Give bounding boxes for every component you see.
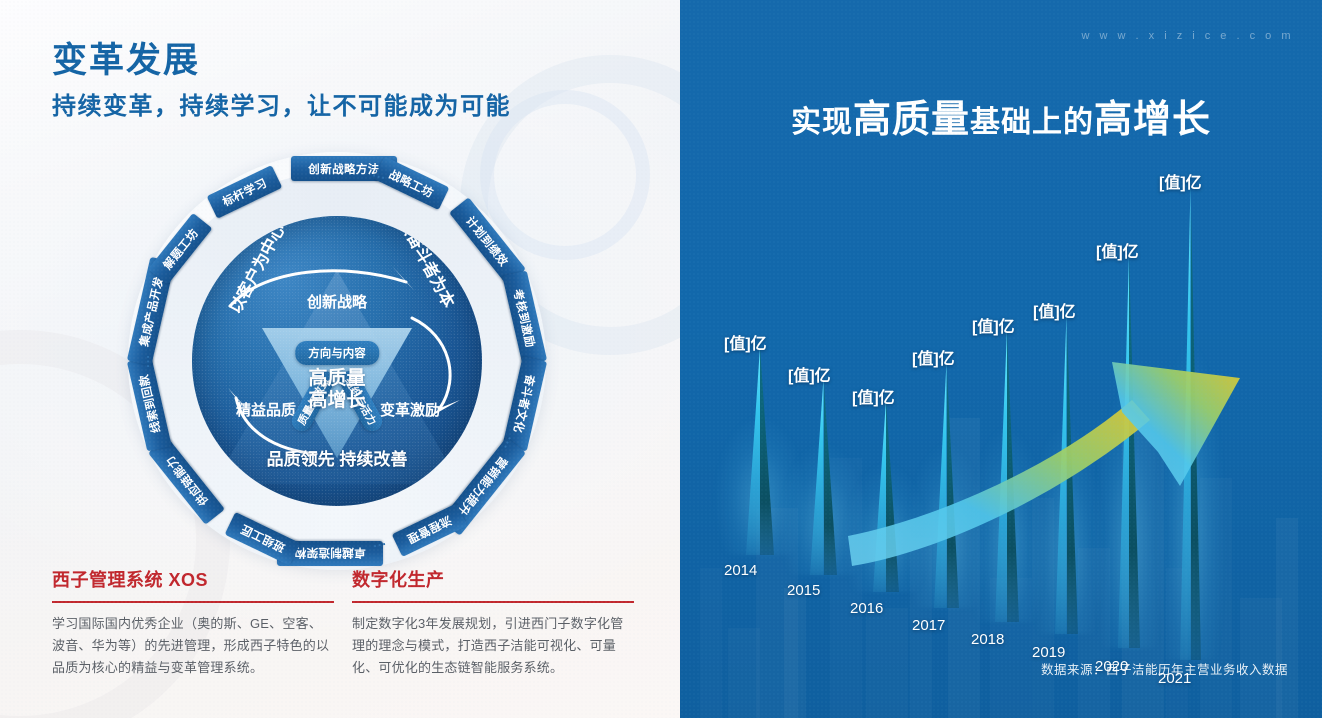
slide-root: 变革发展 持续变革，持续学习，让不可能成为可能 创新战略方法战略工坊计划到绩效考… [0,0,1322,718]
source-note: 数据来源：西子洁能历年主营业务收入数据 [1041,659,1288,678]
pill-direction-content: 方向与内容 [295,341,379,365]
core-line-1: 高质量 [308,368,365,389]
value-label-2017: [值]亿 [912,345,955,369]
vertex-reform-incentive: 变革激励 [380,399,440,420]
page-subtitle: 持续变革，持续学习，让不可能成为可能 [52,86,511,121]
arrow-bottom-left-icon [216,384,328,460]
text-block-xos: 西子管理系统 XOS 学习国际国内优秀企业（奥的斯、GE、空客、波音、华为等）的… [52,566,334,680]
value-label-2019: [值]亿 [1033,298,1076,322]
left-panel: 变革发展 持续变革，持续学习，让不可能成为可能 创新战略方法战略工坊计划到绩效考… [0,0,680,718]
value-label-2014: [值]亿 [724,330,767,354]
pill-organization-vitality: 组织与活力 [336,367,385,434]
right-panel-chart: w w w . x i z i c e . c o m 实现高质量基础上的高增长… [680,0,1322,718]
management-system-diagram: 创新战略方法战略工坊计划到绩效考核到激励奋斗者文化营销能力提升流程管理卓越制造架… [128,152,546,570]
arrow-right-icon [388,312,474,424]
value-label-2021: [值]亿 [1159,169,1202,193]
core-line-2: 高增长 [308,390,365,411]
block-body: 学习国际国内优秀企业（奥的斯、GE、空客、波音、华为等）的先进管理，形成西子特色… [52,613,334,680]
text-block-digital-production: 数字化生产 制定数字化3年发展规划，引进西门子数字化管理的理念与模式，打造西子洁… [352,566,634,680]
value-label-2015: [值]亿 [788,362,831,386]
arrow-top-left-icon [224,260,434,320]
year-label-2017: 2017 [912,617,945,634]
spike-bar-2020 [1118,255,1140,648]
spike-bar-2019 [1055,315,1078,634]
outer-triangle [214,270,460,484]
vertex-lean-quality: 精益品质 [236,399,296,420]
divider [52,601,334,603]
inner-disc: 以客户为中心 以奋斗者为本 创新战略 精益品质 变革激励 方向与内容 质量与效益… [192,216,482,506]
year-label-2014: 2014 [724,562,757,579]
year-label-2016: 2016 [850,600,883,617]
principle-striver-oriented: 以奋斗者为本 [394,216,462,311]
spike-bar-chart: [值]亿2014[值]亿2015[值]亿2016[值]亿2017[值]亿2018… [680,0,1322,718]
core-goal-text: 高质量 高增长 [308,368,365,411]
value-label-2020: [值]亿 [1096,238,1139,262]
block-title: 数字化生产 [352,566,634,592]
principle-customer-centric: 以客户为中心 [222,219,290,318]
ring-ellipsis: ... [135,352,153,370]
year-label-2018: 2018 [971,631,1004,648]
value-label-2018: [值]亿 [972,313,1015,337]
block-title: 西子管理系统 XOS [52,566,334,592]
inverted-triangle [262,328,412,458]
spike-bar-2021 [1180,186,1201,660]
block-body: 制定数字化3年发展规划，引进西门子数字化管理的理念与模式，打造西子洁能可视化、可… [352,613,634,680]
bottom-slogan: 品质领先 持续改善 [267,445,408,470]
year-label-2015: 2015 [787,582,820,599]
divider [352,601,634,603]
pill-quality-benefit: 质量与效益 [288,367,337,434]
page-title: 变革发展 [52,32,200,83]
vertex-innovation-strategy: 创新战略 [307,291,367,312]
